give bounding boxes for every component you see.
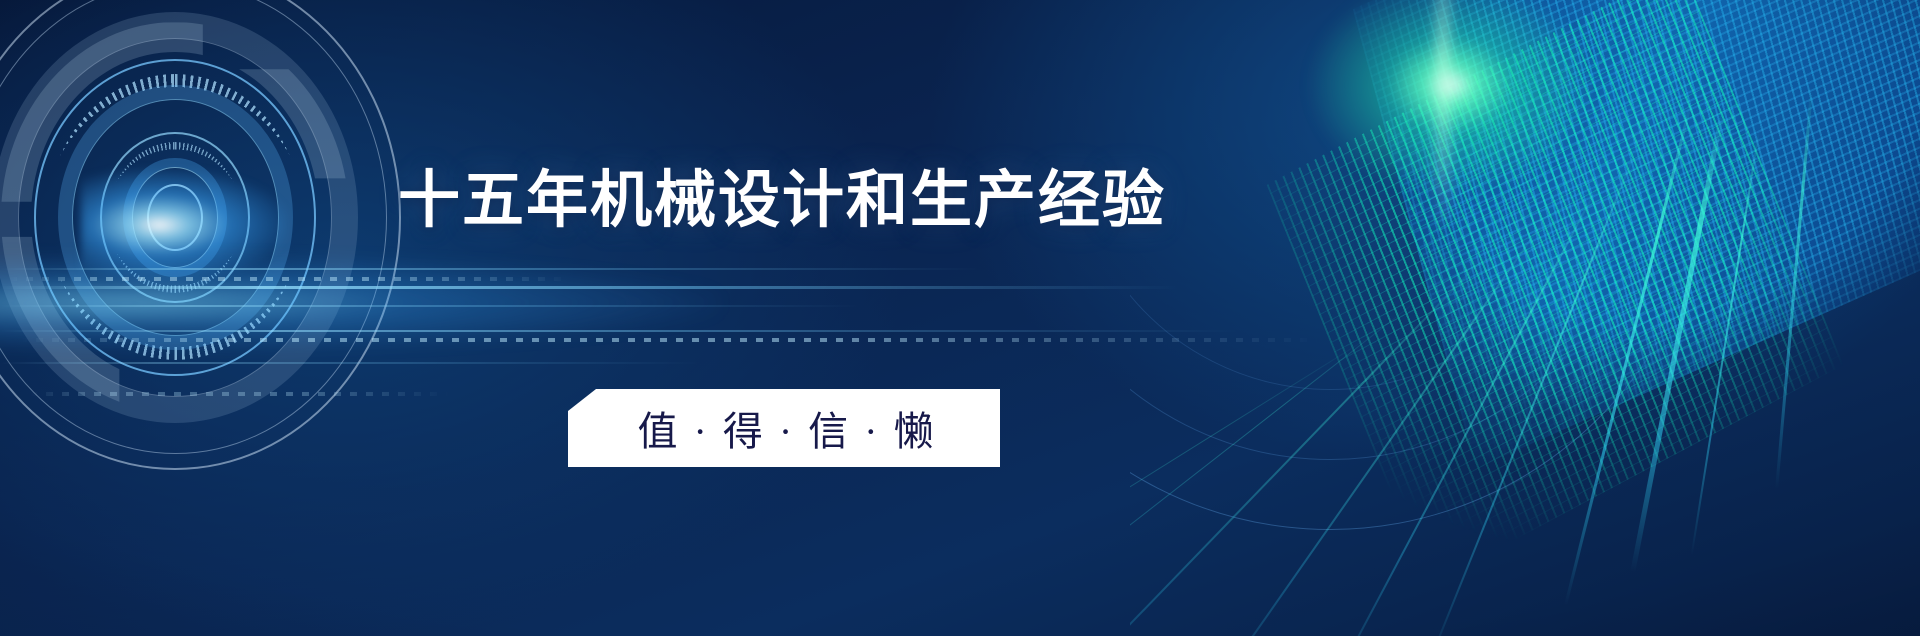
streak-5 (1318, 180, 1601, 636)
promo-banner: 十五年机械设计和生产经验 值 · 得 · 信 · 懒 (0, 0, 1920, 636)
beam-line-5 (0, 362, 700, 364)
circuit-graphic (1130, 0, 1920, 636)
hud-target-icon (0, 0, 410, 480)
streak-2 (1630, 110, 1725, 572)
streak-10 (1775, 90, 1813, 489)
streak-6 (1183, 210, 1552, 636)
beam-line-2 (0, 286, 1180, 289)
beam-dots-3 (30, 392, 450, 396)
streak-4 (1425, 150, 1637, 636)
beam-line-4 (0, 330, 1240, 332)
streak-9 (1130, 330, 1381, 636)
page-title: 十五年机械设计和生产经验 (398, 168, 1198, 234)
light-streaks (1130, 0, 1920, 636)
beam-line-3 (0, 305, 860, 307)
subtitle-badge: 值 · 得 · 信 · 懒 (568, 389, 1000, 467)
beam-dots-1 (10, 277, 570, 281)
subtitle-text: 值 · 得 · 信 · 懒 (632, 399, 937, 457)
beam-line-1 (0, 268, 980, 270)
streak-7 (1130, 250, 1491, 636)
streak-3 (1691, 130, 1760, 555)
beam-dots-2 (20, 338, 1320, 342)
